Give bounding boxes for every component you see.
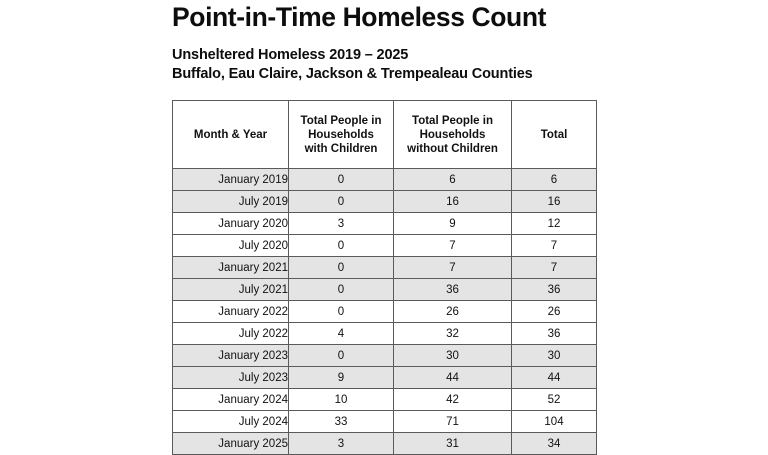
cell-month-year: July 2019 bbox=[173, 191, 289, 213]
cell-without-children: 31 bbox=[394, 433, 512, 455]
table-row: July 202243236 bbox=[173, 323, 597, 345]
cell-month-year: January 2025 bbox=[173, 433, 289, 455]
table-row: January 2024104252 bbox=[173, 389, 597, 411]
page-root: Point-in-Time Homeless Count Unsheltered… bbox=[0, 0, 768, 432]
table-body: January 2019066July 201901616January 202… bbox=[173, 169, 597, 455]
column-header-line: with Children bbox=[305, 143, 378, 155]
table-row: January 202533134 bbox=[173, 433, 597, 455]
column-header-line: Households bbox=[308, 129, 374, 141]
cell-total: 26 bbox=[512, 301, 597, 323]
cell-month-year: January 2020 bbox=[173, 213, 289, 235]
cell-without-children: 26 bbox=[394, 301, 512, 323]
cell-without-children: 44 bbox=[394, 367, 512, 389]
cell-total: 36 bbox=[512, 323, 597, 345]
table-row: January 2021077 bbox=[173, 257, 597, 279]
table-row: July 20243371104 bbox=[173, 411, 597, 433]
cell-without-children: 30 bbox=[394, 345, 512, 367]
cell-with-children: 0 bbox=[289, 345, 394, 367]
table-header-row: Month & Year Total People in Households … bbox=[173, 101, 597, 169]
cell-total: 7 bbox=[512, 257, 597, 279]
cell-with-children: 0 bbox=[289, 191, 394, 213]
cell-month-year: January 2024 bbox=[173, 389, 289, 411]
column-header-without-children: Total People in Households without Child… bbox=[394, 101, 512, 169]
cell-with-children: 0 bbox=[289, 235, 394, 257]
cell-without-children: 71 bbox=[394, 411, 512, 433]
subtitle-date-range: Unsheltered Homeless 2019 – 2025 bbox=[172, 46, 732, 65]
cell-total: 6 bbox=[512, 169, 597, 191]
cell-with-children: 9 bbox=[289, 367, 394, 389]
cell-total: 12 bbox=[512, 213, 597, 235]
cell-month-year: January 2023 bbox=[173, 345, 289, 367]
cell-total: 104 bbox=[512, 411, 597, 433]
cell-with-children: 3 bbox=[289, 213, 394, 235]
table-row: July 2020077 bbox=[173, 235, 597, 257]
cell-with-children: 0 bbox=[289, 301, 394, 323]
cell-total: 7 bbox=[512, 235, 597, 257]
page-title: Point-in-Time Homeless Count bbox=[172, 2, 732, 32]
cell-without-children: 16 bbox=[394, 191, 512, 213]
cell-with-children: 4 bbox=[289, 323, 394, 345]
table-row: January 202202626 bbox=[173, 301, 597, 323]
cell-with-children: 0 bbox=[289, 169, 394, 191]
column-header-total: Total bbox=[512, 101, 597, 169]
cell-total: 30 bbox=[512, 345, 597, 367]
cell-month-year: July 2020 bbox=[173, 235, 289, 257]
cell-total: 16 bbox=[512, 191, 597, 213]
table-row: January 202303030 bbox=[173, 345, 597, 367]
cell-with-children: 3 bbox=[289, 433, 394, 455]
cell-without-children: 6 bbox=[394, 169, 512, 191]
cell-total: 36 bbox=[512, 279, 597, 301]
cell-month-year: January 2022 bbox=[173, 301, 289, 323]
column-header-with-children: Total People in Households with Children bbox=[289, 101, 394, 169]
cell-without-children: 42 bbox=[394, 389, 512, 411]
cell-without-children: 32 bbox=[394, 323, 512, 345]
cell-total: 52 bbox=[512, 389, 597, 411]
table-row: July 202103636 bbox=[173, 279, 597, 301]
column-header-line: Total People in bbox=[412, 115, 493, 127]
table-container: Month & Year Total People in Households … bbox=[172, 100, 596, 455]
table-row: July 202394444 bbox=[173, 367, 597, 389]
column-header-line: Total People in bbox=[301, 115, 382, 127]
cell-total: 44 bbox=[512, 367, 597, 389]
cell-with-children: 33 bbox=[289, 411, 394, 433]
cell-month-year: July 2021 bbox=[173, 279, 289, 301]
cell-without-children: 7 bbox=[394, 257, 512, 279]
cell-month-year: January 2021 bbox=[173, 257, 289, 279]
column-header-line: Households bbox=[420, 129, 486, 141]
column-header-line: Total bbox=[541, 129, 568, 141]
cell-with-children: 0 bbox=[289, 257, 394, 279]
column-header-month-year: Month & Year bbox=[173, 101, 289, 169]
cell-total: 34 bbox=[512, 433, 597, 455]
cell-month-year: January 2019 bbox=[173, 169, 289, 191]
cell-without-children: 7 bbox=[394, 235, 512, 257]
column-header-line: Month & Year bbox=[194, 129, 267, 141]
table-header: Month & Year Total People in Households … bbox=[173, 101, 597, 169]
cell-without-children: 36 bbox=[394, 279, 512, 301]
cell-month-year: July 2023 bbox=[173, 367, 289, 389]
table-row: January 20203912 bbox=[173, 213, 597, 235]
column-header-line: without Children bbox=[407, 143, 498, 155]
cell-month-year: July 2024 bbox=[173, 411, 289, 433]
cell-without-children: 9 bbox=[394, 213, 512, 235]
cell-with-children: 10 bbox=[289, 389, 394, 411]
homeless-count-table: Month & Year Total People in Households … bbox=[172, 100, 597, 455]
title-block: Point-in-Time Homeless Count Unsheltered… bbox=[172, 0, 732, 84]
table-row: July 201901616 bbox=[173, 191, 597, 213]
table-row: January 2019066 bbox=[173, 169, 597, 191]
subtitle-counties: Buffalo, Eau Claire, Jackson & Trempeale… bbox=[172, 65, 732, 84]
cell-month-year: July 2022 bbox=[173, 323, 289, 345]
cell-with-children: 0 bbox=[289, 279, 394, 301]
